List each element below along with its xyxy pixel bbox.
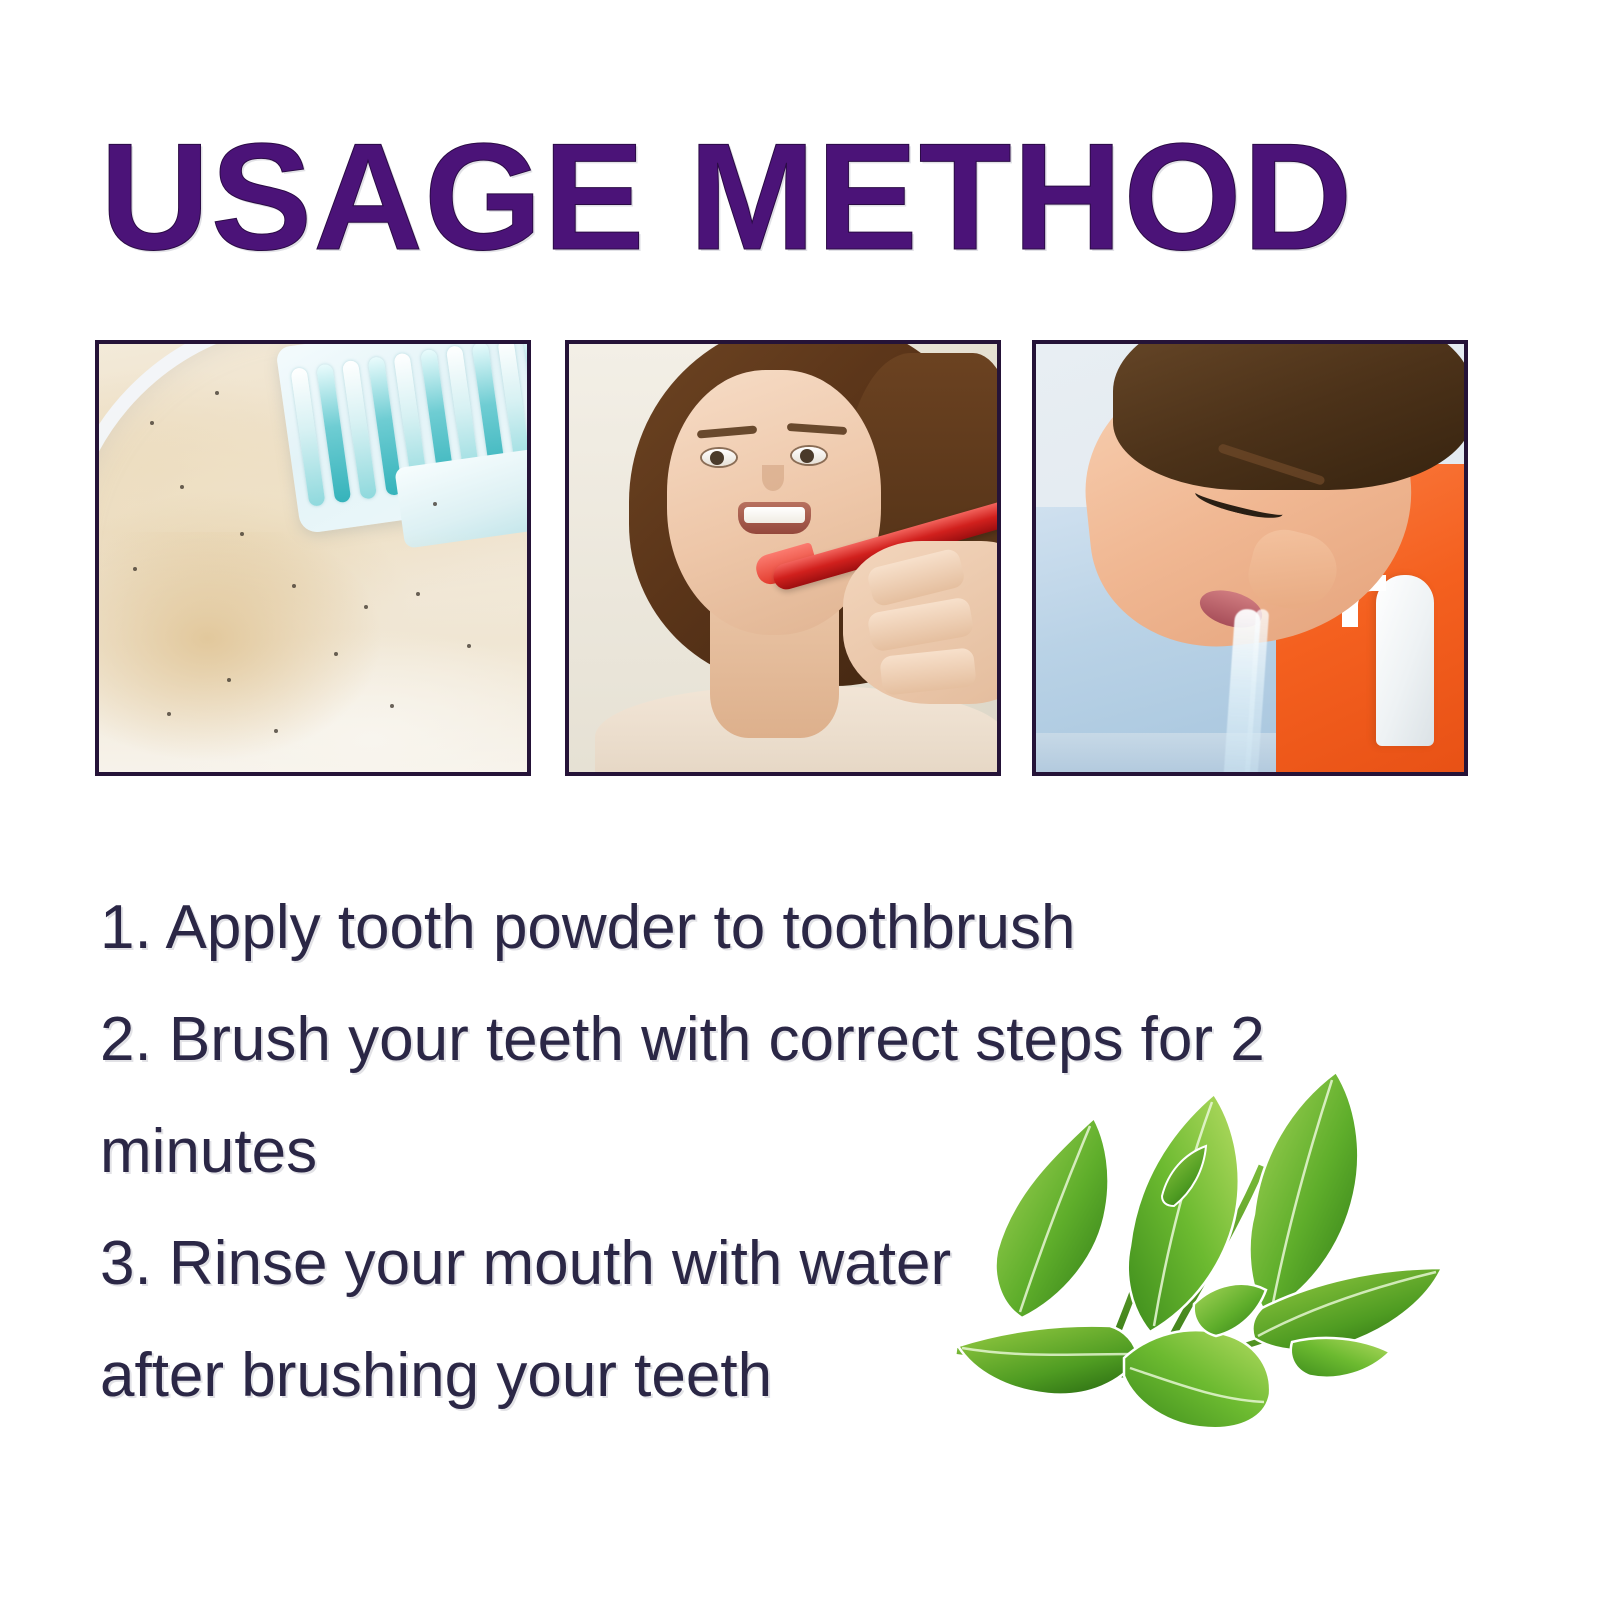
photo-brushing-content xyxy=(569,344,997,772)
photo-tooth-powder-content xyxy=(99,344,527,772)
teeth xyxy=(744,507,805,523)
powder-foreground xyxy=(99,532,527,772)
photo-tooth-powder xyxy=(95,340,531,776)
step-line-3-cont: after brushing your teeth xyxy=(100,1320,1520,1432)
photo-brushing xyxy=(565,340,1001,776)
photo-strip xyxy=(95,340,1495,780)
step-line-2: 2. Brush your teeth with correct steps f… xyxy=(100,984,1520,1096)
faucet xyxy=(1376,575,1434,746)
step-line-3: 3. Rinse your mouth with water xyxy=(100,1208,1520,1320)
page-title: USAGE METHOD xyxy=(100,122,1500,272)
infographic-page: USAGE METHOD xyxy=(0,0,1600,1600)
instruction-steps: 1. Apply tooth powder to toothbrush 2. B… xyxy=(100,872,1520,1432)
step-line-1: 1. Apply tooth powder to toothbrush xyxy=(100,872,1520,984)
photo-rinsing-content xyxy=(1036,344,1464,772)
photo-rinsing xyxy=(1032,340,1468,776)
step-line-2-cont: minutes xyxy=(100,1096,1520,1208)
mouth xyxy=(738,502,811,534)
